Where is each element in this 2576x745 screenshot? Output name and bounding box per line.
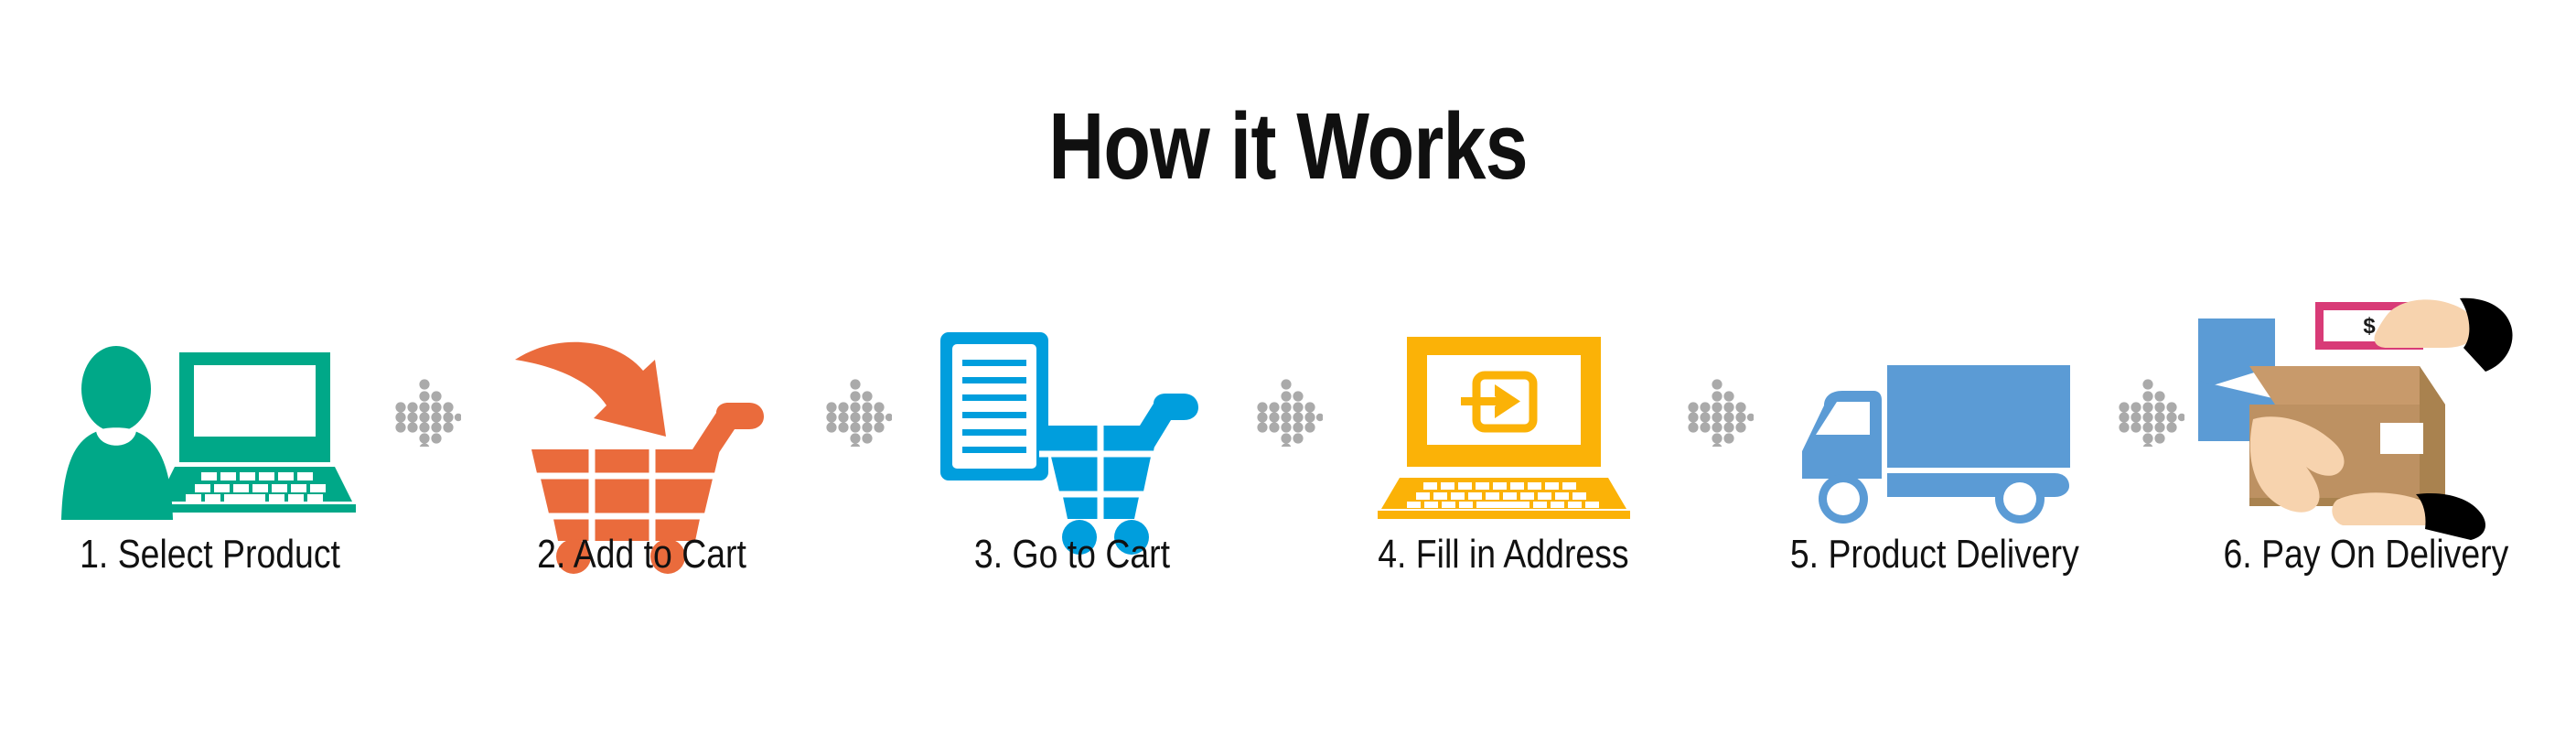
step-item-add-to-cart[interactable]: 2. Add to Cart bbox=[467, 302, 815, 604]
dotted-arrow-separator bbox=[1680, 302, 1757, 522]
dotted-arrow-separator bbox=[1250, 302, 1326, 522]
cart-with-arrow-icon bbox=[467, 302, 815, 522]
step-label: 4. Fill in Address bbox=[1378, 534, 1628, 575]
hands-exchanging-box-and-money-icon: $ bbox=[2192, 302, 2539, 522]
step-label: 5. Product Delivery bbox=[1790, 534, 2079, 575]
step-item-pay-on-delivery[interactable]: $ bbox=[2192, 302, 2539, 604]
step-label: 3. Go to Cart bbox=[974, 534, 1170, 575]
laptop-with-login-arrow-icon bbox=[1330, 302, 1678, 522]
dotted-arrow-separator bbox=[2111, 302, 2188, 522]
steps-strip: 1. Select Product bbox=[37, 302, 2539, 604]
person-with-laptop-icon bbox=[37, 302, 384, 522]
step-item-select-product[interactable]: 1. Select Product bbox=[37, 302, 384, 604]
dotted-arrow-separator bbox=[388, 302, 465, 522]
currency-symbol: $ bbox=[2363, 314, 2376, 339]
step-label: 2. Add to Cart bbox=[537, 534, 746, 575]
infographic-how-it-works: How it Works bbox=[0, 0, 2576, 745]
step-label: 6. Pay On Delivery bbox=[2223, 534, 2508, 575]
step-label: 1. Select Product bbox=[80, 534, 341, 575]
step-item-fill-in-address[interactable]: 4. Fill in Address bbox=[1330, 302, 1678, 604]
delivery-truck-icon bbox=[1761, 302, 2109, 522]
step-item-product-delivery[interactable]: 5. Product Delivery bbox=[1761, 302, 2109, 604]
page-title: How it Works bbox=[231, 99, 2344, 193]
dotted-arrow-separator bbox=[819, 302, 896, 522]
document-with-cart-icon bbox=[898, 302, 1246, 522]
step-item-go-to-cart[interactable]: 3. Go to Cart bbox=[898, 302, 1246, 604]
